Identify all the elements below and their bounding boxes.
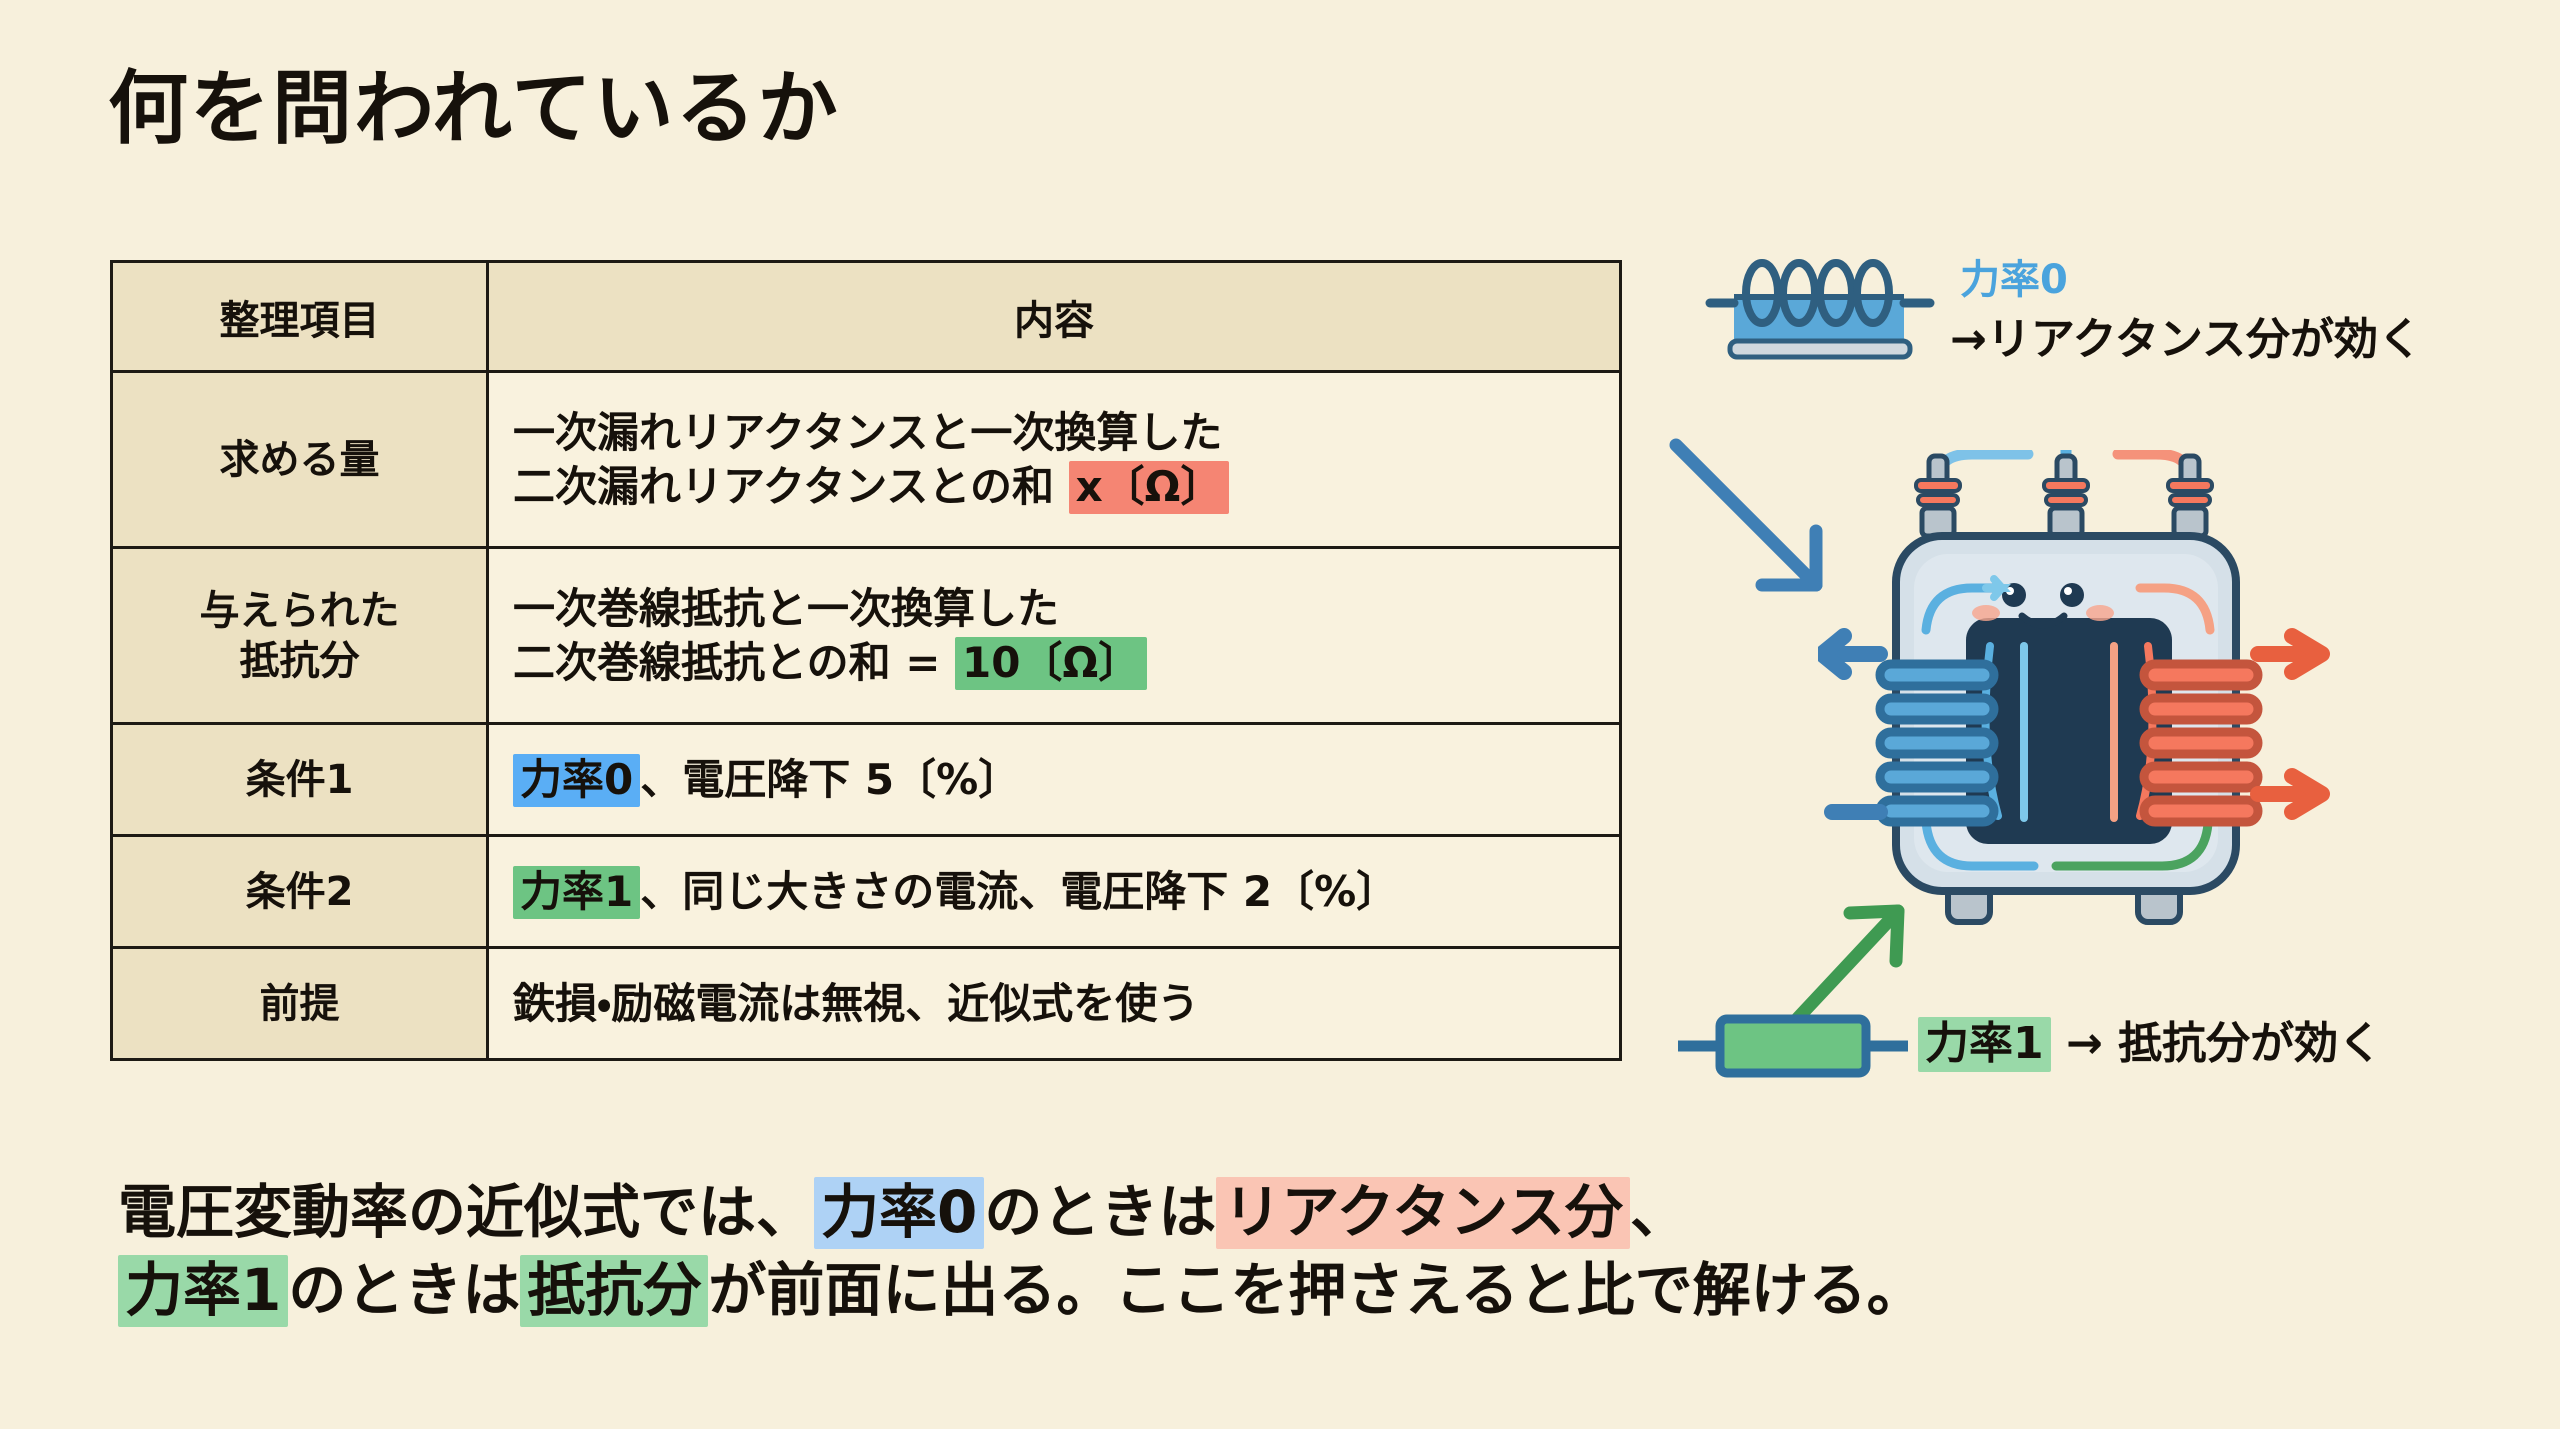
summary-text-e: が前面に出る。ここを押さえると比で解ける。 [708,1256,1924,1324]
summary-text-b: のときは [984,1178,1216,1246]
row-content-target-quantity: 一次漏れリアクタンスと一次換算した 二次漏れリアクタンスとの和 x〔Ω〕 [488,372,1621,548]
row-content-condition-2: 力率1、同じ大きさの電流、電圧降下 2〔%〕 [488,836,1621,948]
coil-label-reactance: →リアクタンス分が効く [1950,303,2422,367]
table-header-content: 内容 [488,262,1621,372]
resistor-label: 力率1 → 抵抗分が効く [1918,1007,2382,1071]
label-line-2: 抵抗分 [137,636,462,686]
table-header-item: 整理項目 [112,262,488,372]
highlight-power-factor-1-diagram: 力率1 [1918,1017,2051,1072]
summary-text-a: 電圧変動率の近似式では、 [118,1178,814,1246]
highlight-pf1: 力率1 [118,1255,288,1327]
table-row: 求める量 一次漏れリアクタンスと一次換算した 二次漏れリアクタンスとの和 x〔Ω… [112,372,1621,548]
row-label-condition-1: 条件1 [112,724,488,836]
row-content-premise: 鉄損・励磁電流は無視、近似式を使う [488,948,1621,1060]
coil-label-power-factor-0: 力率0 [1960,247,2068,305]
resistor-label-text: → 抵抗分が効く [2066,1018,2382,1069]
row-label-premise: 前提 [112,948,488,1060]
summary-table: 整理項目 内容 求める量 一次漏れリアクタンスと一次換算した 二次漏れリアクタン… [110,260,1622,1061]
table-row: 与えられた 抵抗分 一次巻線抵抗と一次換算した 二次巻線抵抗との和 = 10〔Ω… [112,548,1621,724]
table-row: 条件2 力率1、同じ大きさの電流、電圧降下 2〔%〕 [112,836,1621,948]
summary-line-1: 電圧変動率の近似式では、力率0のときはリアクタンス分、 [118,1174,2498,1252]
slide-root: 何を問われているか 整理項目 内容 求める量 一次漏れリアクタンスと一次換算した… [0,0,2560,1429]
table-row: 条件1 力率0、電圧降下 5〔%〕 [112,724,1621,836]
diagram-panel: 力率0 →リアクタンス分が効く [1660,235,2560,1135]
resistor-icon [1678,1007,1908,1089]
row-content-given-resistance: 一次巻線抵抗と一次換算した 二次巻線抵抗との和 = 10〔Ω〕 [488,548,1621,724]
content-line-1: 一次漏れリアクタンスと一次換算した [513,406,1595,460]
highlight-reactance: リアクタンス分 [1216,1177,1630,1249]
row-label-condition-2: 条件2 [112,836,488,948]
content-text: 二次巻線抵抗との和 = [513,638,940,687]
row-label-given-resistance: 与えられた 抵抗分 [112,548,488,724]
summary-text-d: のときは [288,1256,520,1324]
content-text: 、電圧降下 5〔%〕 [640,755,1020,804]
highlight-unknown-x: x〔Ω〕 [1069,461,1230,514]
highlight-pf0: 力率0 [814,1177,984,1249]
summary-line-2: 力率1のときは抵抗分が前面に出る。ここを押さえると比で解ける。 [118,1252,2498,1330]
label-line-1: 与えられた [137,586,462,636]
summary-text-c: 、 [1630,1178,1688,1246]
row-label-target-quantity: 求める量 [112,372,488,548]
highlight-power-factor-1: 力率1 [513,866,640,919]
content-line-2: 二次巻線抵抗との和 = 10〔Ω〕 [513,636,1595,690]
table-row: 前提 鉄損・励磁電流は無視、近似式を使う [112,948,1621,1060]
highlight-power-factor-0: 力率0 [513,754,640,807]
content-text: 、同じ大きさの電流、電圧降下 2〔%〕 [640,867,1398,916]
summary-text: 電圧変動率の近似式では、力率0のときはリアクタンス分、 力率1のときは抵抗分が前… [118,1174,2498,1329]
inductor-coil-icon [1700,253,1940,367]
table-header-row: 整理項目 内容 [112,262,1621,372]
highlight-resistance: 抵抗分 [520,1255,708,1327]
content-text: 二次漏れリアクタンスとの和 [513,462,1054,511]
content-line-1: 一次巻線抵抗と一次換算した [513,582,1595,636]
highlight-resistance-value: 10〔Ω〕 [955,637,1147,690]
page-title: 何を問われているか [108,44,840,160]
content-line-2: 二次漏れリアクタンスとの和 x〔Ω〕 [513,460,1595,514]
row-content-condition-1: 力率0、電圧降下 5〔%〕 [488,724,1621,836]
